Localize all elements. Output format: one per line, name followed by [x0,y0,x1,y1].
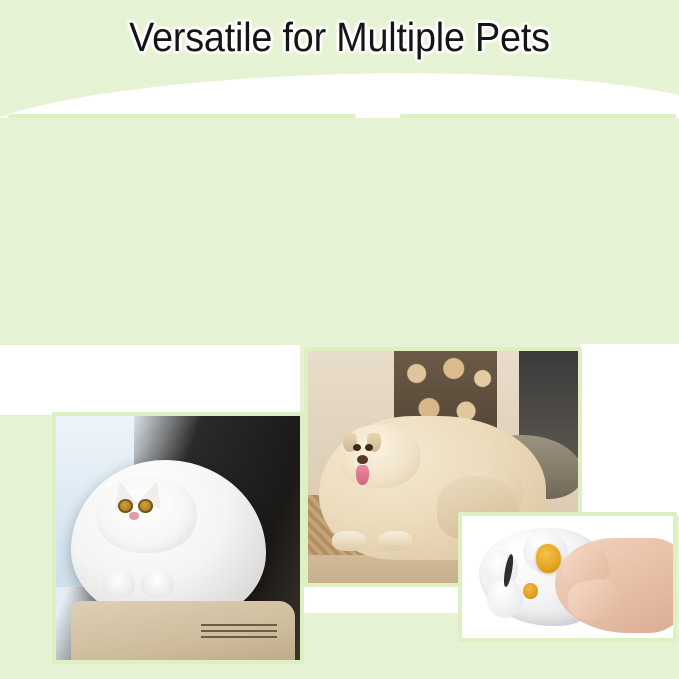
cat-eye [138,499,153,513]
grooming-device-panel [458,512,677,642]
paper-bag [71,601,295,660]
filler-left-upper [0,345,300,415]
cat-nose [129,512,139,520]
dog-tongue [356,465,369,485]
dog-eye [365,444,373,451]
cat-paw [102,571,135,598]
header-white-swoosh [0,64,679,118]
dog-paw [378,531,412,551]
grooming-device-photo [462,516,673,638]
cat-head [96,476,197,553]
white-cat-photo [56,416,300,660]
treat-shape-small [523,583,537,600]
white-cat-panel [52,412,304,664]
dog-nose [357,455,368,464]
dog-paw [332,531,366,551]
dog-eye [353,444,361,451]
page-title: Versatile for Multiple Pets [27,14,652,61]
filler-below-dog [304,585,464,613]
cat-eye [118,499,133,513]
filler-right [580,344,679,516]
cat-paw [141,571,174,598]
cat-body [71,460,266,621]
header-band: Versatile for Multiple Pets [0,0,679,118]
dog-head [339,425,421,488]
marketing-image-root: Versatile for Multiple Pets Before use A… [0,0,679,679]
